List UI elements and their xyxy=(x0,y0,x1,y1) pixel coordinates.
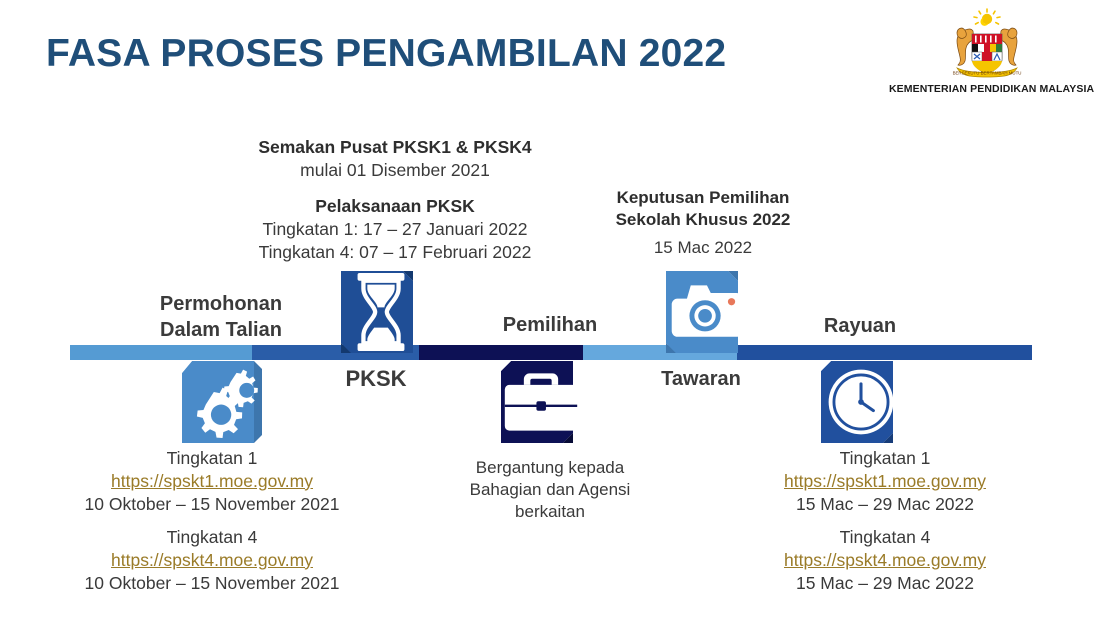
briefcase-icon xyxy=(501,361,573,443)
annotation-keputusan: Keputusan Pemilihan Sekolah Khusus 2022 … xyxy=(578,187,828,259)
clock-icon xyxy=(821,361,893,443)
phase-icon-box-pksk[interactable] xyxy=(341,271,421,353)
phase-label-pksk: PKSK xyxy=(306,366,446,392)
annotation-bottom-right-tingkatan1-url[interactable]: https://spskt1.moe.gov.my xyxy=(735,470,1035,493)
gears-icon xyxy=(182,361,254,443)
svg-text:BERSEKUTU BERTAMBAH MUTU: BERSEKUTU BERTAMBAH MUTU xyxy=(953,71,1022,76)
annotation-pksk-review: Semakan Pusat PKSK1 & PKSK4 mulai 01 Dis… xyxy=(200,136,590,182)
annotation-pksk-execution-line1: Pelaksanaan PKSK xyxy=(200,195,590,218)
annotation-pksk-review-line2: mulai 01 Disember 2021 xyxy=(200,159,590,182)
phase-icon-box-tawaran[interactable] xyxy=(666,271,746,353)
annotation-bottom-right-tingkatan4-label: Tingkatan 4 xyxy=(735,526,1035,549)
annotation-pksk-execution: Pelaksanaan PKSK Tingkatan 1: 17 – 27 Ja… xyxy=(200,195,590,263)
annotation-bottom-middle-line3: berkaitan xyxy=(440,501,660,523)
annotation-pksk-execution-line3: Tingkatan 4: 07 – 17 Februari 2022 xyxy=(200,241,590,264)
timeline-segment-permohonan xyxy=(70,345,252,360)
annotation-bottom-left-tingkatan1-url[interactable]: https://spskt1.moe.gov.my xyxy=(42,470,382,493)
phase-label-tawaran: Tawaran xyxy=(616,368,786,391)
annotation-bottom-right-tingkatan4-url[interactable]: https://spskt4.moe.gov.my xyxy=(735,549,1035,572)
annotation-keputusan-line3: 15 Mac 2022 xyxy=(578,237,828,259)
annotation-bottom-right-tingkatan4-dates: 15 Mac – 29 Mac 2022 xyxy=(735,572,1035,595)
timeline-segment-pemilihan xyxy=(419,345,583,360)
annotation-bottom-right-tingkatan1-dates: 15 Mac – 29 Mac 2022 xyxy=(735,493,1035,516)
annotation-bottom-middle-line2: Bahagian dan Agensi xyxy=(440,479,660,501)
phase-icon-box-rayuan[interactable] xyxy=(821,361,901,443)
camera-icon xyxy=(666,271,738,353)
phase-label-permohonan-line1: Permohonan xyxy=(128,292,314,318)
page-title: FASA PROSES PENGAMBILAN 2022 xyxy=(46,32,726,76)
phase-icon-box-pemilihan[interactable] xyxy=(501,361,581,443)
timeline-segment-rayuan xyxy=(737,345,1032,360)
annotation-bottom-right-tingkatan4: Tingkatan 4 https://spskt4.moe.gov.my 15… xyxy=(735,526,1035,594)
annotation-bottom-left-tingkatan1: Tingkatan 1 https://spskt1.moe.gov.my 10… xyxy=(42,447,382,515)
annotation-keputusan-line1: Keputusan Pemilihan xyxy=(578,187,828,209)
annotation-bottom-middle-line1: Bergantung kepada xyxy=(440,457,660,479)
phase-label-rayuan: Rayuan xyxy=(790,315,930,338)
annotation-bottom-right-tingkatan1-label: Tingkatan 1 xyxy=(735,447,1035,470)
slide-canvas: FASA PROSES PENGAMBILAN 2022 xyxy=(0,0,1099,617)
ministry-logo: BERSEKUTU BERTAMBAH MUTU KEMENTERIAN PEN… xyxy=(889,8,1085,95)
phase-label-permohonan-line2: Dalam Talian xyxy=(128,318,314,344)
phase-label-pemilihan: Pemilihan xyxy=(430,314,670,337)
annotation-bottom-left-tingkatan4-url[interactable]: https://spskt4.moe.gov.my xyxy=(42,549,382,572)
annotation-pksk-review-line1: Semakan Pusat PKSK1 & PKSK4 xyxy=(200,136,590,159)
ministry-logo-caption: KEMENTERIAN PENDIDIKAN MALAYSIA xyxy=(889,83,1085,95)
phase-label-permohonan: Permohonan Dalam Talian xyxy=(128,292,314,343)
annotation-keputusan-line2: Sekolah Khusus 2022 xyxy=(578,209,828,231)
annotation-bottom-middle: Bergantung kepada Bahagian dan Agensi be… xyxy=(440,457,660,523)
annotation-pksk-execution-line2: Tingkatan 1: 17 – 27 Januari 2022 xyxy=(200,218,590,241)
phase-icon-box-permohonan[interactable] xyxy=(182,361,262,443)
annotation-bottom-left-tingkatan1-label: Tingkatan 1 xyxy=(42,447,382,470)
annotation-bottom-left-tingkatan4-label: Tingkatan 4 xyxy=(42,526,382,549)
annotation-bottom-left-tingkatan4: Tingkatan 4 https://spskt4.moe.gov.my 10… xyxy=(42,526,382,594)
annotation-bottom-right-tingkatan1: Tingkatan 1 https://spskt1.moe.gov.my 15… xyxy=(735,447,1035,515)
annotation-bottom-left-tingkatan1-dates: 10 Oktober – 15 November 2021 xyxy=(42,493,382,516)
hourglass-icon xyxy=(341,271,413,353)
malaysia-coat-of-arms-icon: BERSEKUTU BERTAMBAH MUTU xyxy=(941,8,1033,82)
annotation-bottom-left-tingkatan4-dates: 10 Oktober – 15 November 2021 xyxy=(42,572,382,595)
